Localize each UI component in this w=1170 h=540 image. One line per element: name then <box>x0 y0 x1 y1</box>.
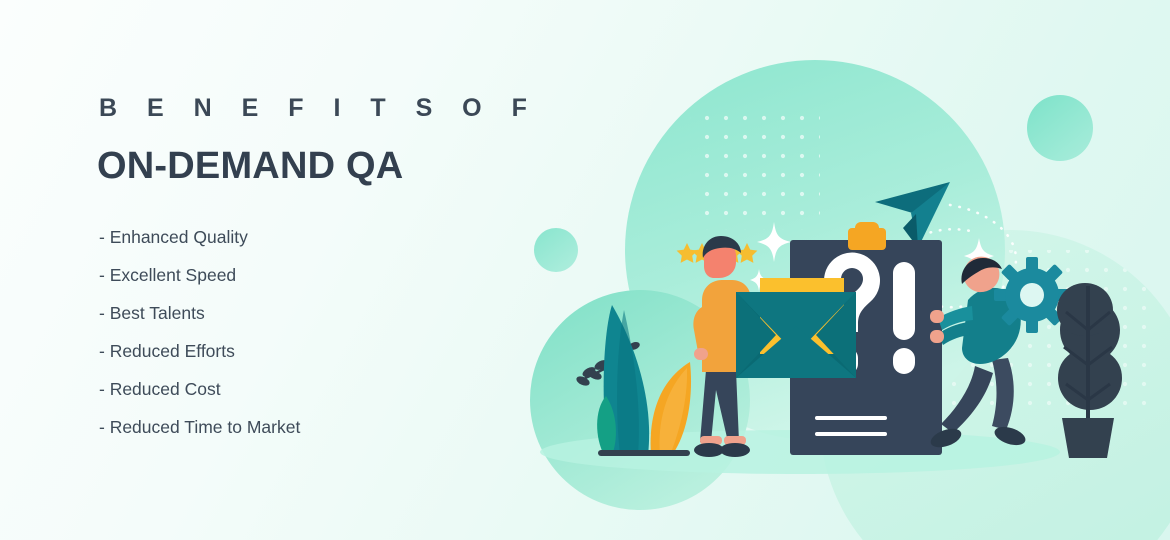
eyebrow-label: B E N E F I T S O F <box>99 96 567 121</box>
banner-root: B E N E F I T S O F ON-DEMAND QA - Enhan… <box>0 0 1170 540</box>
shoe <box>720 443 750 457</box>
list-item: - Reduced Time to Market <box>99 419 567 437</box>
envelope <box>736 278 856 378</box>
clipboard-line <box>815 416 887 420</box>
gear-icon <box>994 257 1070 333</box>
list-item: - Enhanced Quality <box>99 229 567 247</box>
page-title: ON-DEMAND QA <box>97 147 567 185</box>
plant-soil-bar <box>598 450 690 456</box>
list-item: - Best Talents <box>99 305 567 323</box>
benefits-list: - Enhanced Quality - Excellent Speed - B… <box>99 229 567 437</box>
tree-pot <box>1062 418 1114 458</box>
clipboard-line <box>815 432 887 436</box>
bg-small-circle-topright <box>1027 95 1093 161</box>
list-item: - Excellent Speed <box>99 267 567 285</box>
exclamation-mark <box>893 262 915 374</box>
list-item: - Reduced Efforts <box>99 343 567 361</box>
text-column: B E N E F I T S O F ON-DEMAND QA - Enhan… <box>97 96 567 457</box>
shoe <box>694 443 724 457</box>
list-item: - Reduced Cost <box>99 381 567 399</box>
